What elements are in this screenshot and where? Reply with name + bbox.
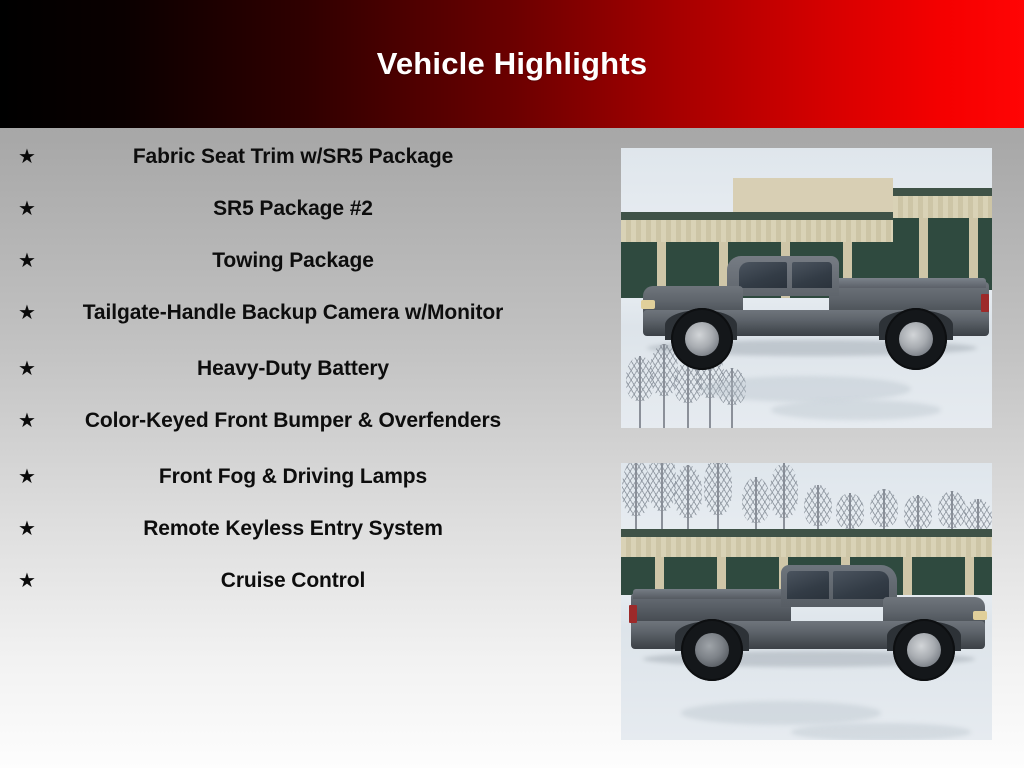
rear-wheel-rim [899,322,933,356]
photo-scene-passenger-side [621,463,992,740]
star-bullet-icon: ★ [10,406,44,436]
building-roof-band [893,188,992,196]
star-bullet-icon: ★ [10,246,44,276]
taillamp [629,605,637,623]
snow-track [791,723,971,740]
front-door-window [739,262,787,288]
tonneau-cover [633,589,787,599]
front-wheel [893,619,955,681]
list-item-label: Heavy-Duty Battery [44,354,600,384]
building-siding [621,537,992,557]
slide-header-banner: Vehicle Highlights [0,0,1024,128]
building-roof-band [621,529,992,537]
bare-tree [687,362,689,428]
front-wheel-rim [685,322,719,356]
vehicle-photo-driver-side [621,148,992,428]
pickup-truck [629,248,989,368]
building-siding [893,196,992,218]
front-door-window [833,571,889,599]
building-roof-band [621,212,893,220]
list-item-label: Remote Keyless Entry System [44,514,600,544]
photo-scene-driver-side [621,148,992,428]
front-wheel [671,308,733,370]
rear-wheel [885,308,947,370]
list-item-label: Tailgate-Handle Backup Camera w/Monitor [44,298,600,328]
list-item-label: Fabric Seat Trim w/SR5 Package [44,142,600,172]
list-item: ★ Cruise Control [0,566,600,596]
star-bullet-icon: ★ [10,566,44,596]
tonneau-cover [834,278,986,288]
rear-wheel-rim [695,633,729,667]
pickup-truck [625,555,987,677]
rear-cab-window [787,571,829,599]
vehicle-highlights-list: ★ Fabric Seat Trim w/SR5 Package ★ SR5 P… [0,128,600,768]
list-item: ★ Remote Keyless Entry System [0,514,600,544]
rear-wheel [681,619,743,681]
list-item-label: SR5 Package #2 [44,194,600,224]
building-siding [621,220,893,242]
list-item: ★ Tailgate-Handle Backup Camera w/Monito… [0,298,600,328]
snow-track [681,701,881,725]
rear-cab-window [792,262,832,288]
list-item-label: Front Fog & Driving Lamps [44,462,600,492]
front-wheel-rim [907,633,941,667]
list-item: ★ Color-Keyed Front Bumper & Overfenders [0,406,600,436]
star-bullet-icon: ★ [10,194,44,224]
list-item: ★ Fabric Seat Trim w/SR5 Package [0,142,600,172]
list-item: ★ Towing Package [0,246,600,276]
list-item-label: Cruise Control [44,566,600,596]
list-item-label: Color-Keyed Front Bumper & Overfenders [44,406,600,436]
star-bullet-icon: ★ [10,514,44,544]
star-bullet-icon: ★ [10,462,44,492]
list-item-label: Towing Package [44,246,600,276]
page-title: Vehicle Highlights [0,0,1024,128]
headlamp [973,611,987,620]
snow-track [771,400,941,420]
list-item: ★ SR5 Package #2 [0,194,600,224]
star-bullet-icon: ★ [10,142,44,172]
taillamp [981,294,989,312]
vehicle-photo-passenger-side [621,463,992,740]
headlamp [641,300,655,309]
snow-track [701,376,911,402]
list-item: ★ Heavy-Duty Battery [0,354,600,384]
list-item: ★ Front Fog & Driving Lamps [0,462,600,492]
star-bullet-icon: ★ [10,298,44,328]
star-bullet-icon: ★ [10,354,44,384]
